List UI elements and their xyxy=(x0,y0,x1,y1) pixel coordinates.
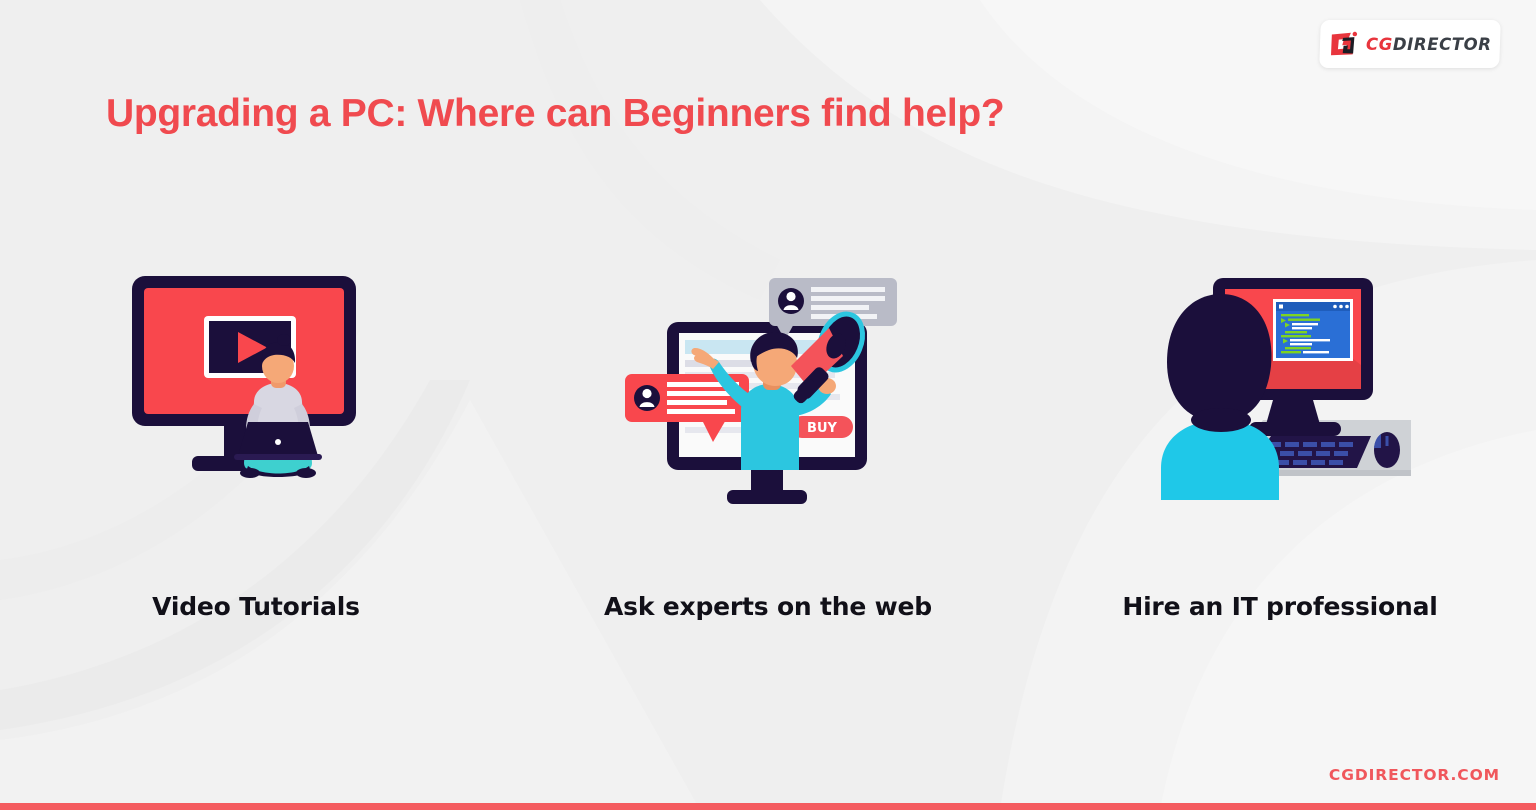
illustration-hire-it-professional xyxy=(1145,270,1415,500)
person-back-icon xyxy=(1161,294,1279,500)
cgdirector-g-mark-icon xyxy=(1329,31,1359,57)
infographic-canvas: CGDIRECTOR Upgrading a PC: Where can Beg… xyxy=(0,0,1536,810)
column-video-tutorials: Video Tutorials xyxy=(0,270,512,670)
illustration-video-tutorials xyxy=(126,270,386,500)
mouse-icon xyxy=(1374,432,1400,468)
code-window-icon xyxy=(1273,299,1353,361)
buy-button[interactable]: BUY xyxy=(791,416,853,438)
logo-wordmark: CGDIRECTOR xyxy=(1366,35,1492,54)
column-hire-it-professional: Hire an IT professional xyxy=(1024,270,1536,670)
page-title: Upgrading a PC: Where can Beginners find… xyxy=(106,92,1004,136)
buy-button-label: BUY xyxy=(807,421,837,436)
footer-accent-bar xyxy=(0,803,1536,810)
column-label-video-tutorials: Video Tutorials xyxy=(0,592,512,621)
cgdirector-logo[interactable]: CGDIRECTOR xyxy=(1319,20,1501,68)
logo-text-director: DIRECTOR xyxy=(1393,35,1492,54)
illustration-ask-experts: BUY xyxy=(623,270,913,520)
column-label-ask-experts: Ask experts on the web xyxy=(512,592,1024,621)
footer-url[interactable]: CGDIRECTOR.COM xyxy=(1329,766,1500,784)
column-label-hire-it-professional: Hire an IT professional xyxy=(1024,592,1536,621)
columns-container: Video Tutorials xyxy=(0,270,1536,670)
column-ask-experts: BUY xyxy=(512,270,1024,670)
logo-text-cg: CG xyxy=(1366,35,1393,54)
